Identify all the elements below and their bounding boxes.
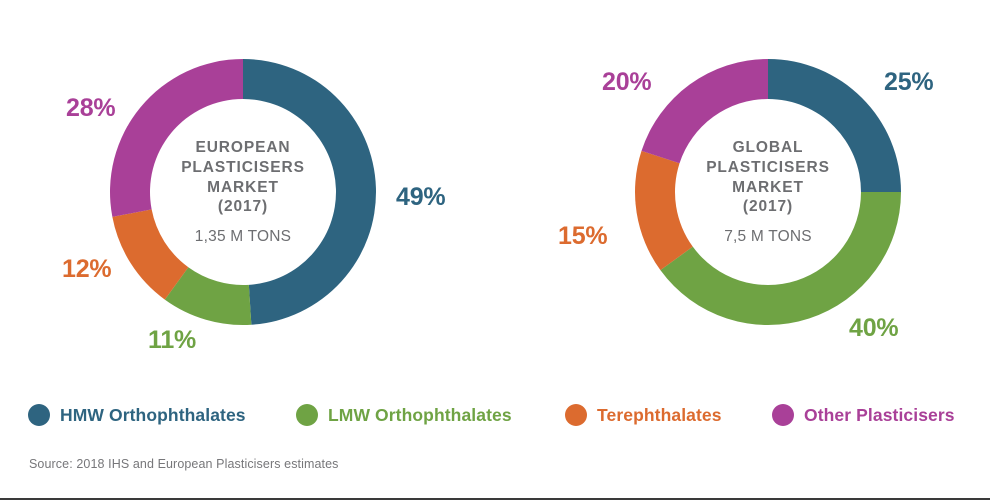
legend-item-terephthalates: Terephthalates bbox=[565, 400, 722, 430]
donut-segment bbox=[660, 192, 901, 325]
donut-chart-global-market: GLOBAL PLASTICISERS MARKET (2017) 7,5 M … bbox=[623, 47, 913, 337]
percent-label-european-other: 28% bbox=[66, 94, 115, 123]
donut-segment bbox=[642, 59, 768, 163]
legend-item-other-plasticisers: Other Plasticisers bbox=[772, 400, 955, 430]
legend-label-hmw: HMW Orthophthalates bbox=[60, 405, 246, 426]
percent-label-european-terephthalates: 12% bbox=[62, 255, 111, 284]
percent-label-global-terephthalates: 15% bbox=[558, 222, 607, 251]
legend-swatch-circle-icon-hmw bbox=[28, 404, 50, 426]
donut-chart-european-market: EUROPEAN PLASTICISERS MARKET (2017) 1,35… bbox=[98, 47, 388, 337]
percent-label-global-other: 20% bbox=[602, 68, 651, 97]
percent-label-european-hmw: 49% bbox=[396, 183, 445, 212]
legend-label-terephthalates: Terephthalates bbox=[597, 405, 722, 426]
donut-segments-global bbox=[635, 59, 901, 325]
donut-segment bbox=[768, 59, 901, 192]
donut-segments-european bbox=[110, 59, 376, 325]
donut-svg-global bbox=[623, 47, 913, 337]
percent-label-global-lmw: 40% bbox=[849, 314, 898, 343]
legend-swatch-circle-icon-terephthalates bbox=[565, 404, 587, 426]
legend-swatch-circle-icon-lmw bbox=[296, 404, 318, 426]
percent-label-global-hmw: 25% bbox=[884, 68, 933, 97]
source-note: Source: 2018 IHS and European Plasticise… bbox=[29, 457, 339, 471]
donut-segment bbox=[635, 151, 693, 270]
donut-segment bbox=[243, 59, 376, 325]
legend-label-other: Other Plasticisers bbox=[804, 405, 955, 426]
legend-item-lmw-orthophthalates: LMW Orthophthalates bbox=[296, 400, 512, 430]
donut-svg-european bbox=[98, 47, 388, 337]
percent-label-european-lmw: 11% bbox=[148, 326, 196, 355]
legend-swatch-circle-icon-other bbox=[772, 404, 794, 426]
plasticisers-market-infographic: EUROPEAN PLASTICISERS MARKET (2017) 1,35… bbox=[0, 0, 990, 500]
chart-legend: HMW Orthophthalates LMW Orthophthalates … bbox=[0, 400, 990, 436]
legend-item-hmw-orthophthalates: HMW Orthophthalates bbox=[28, 400, 246, 430]
legend-label-lmw: LMW Orthophthalates bbox=[328, 405, 512, 426]
donut-segment bbox=[110, 59, 243, 217]
